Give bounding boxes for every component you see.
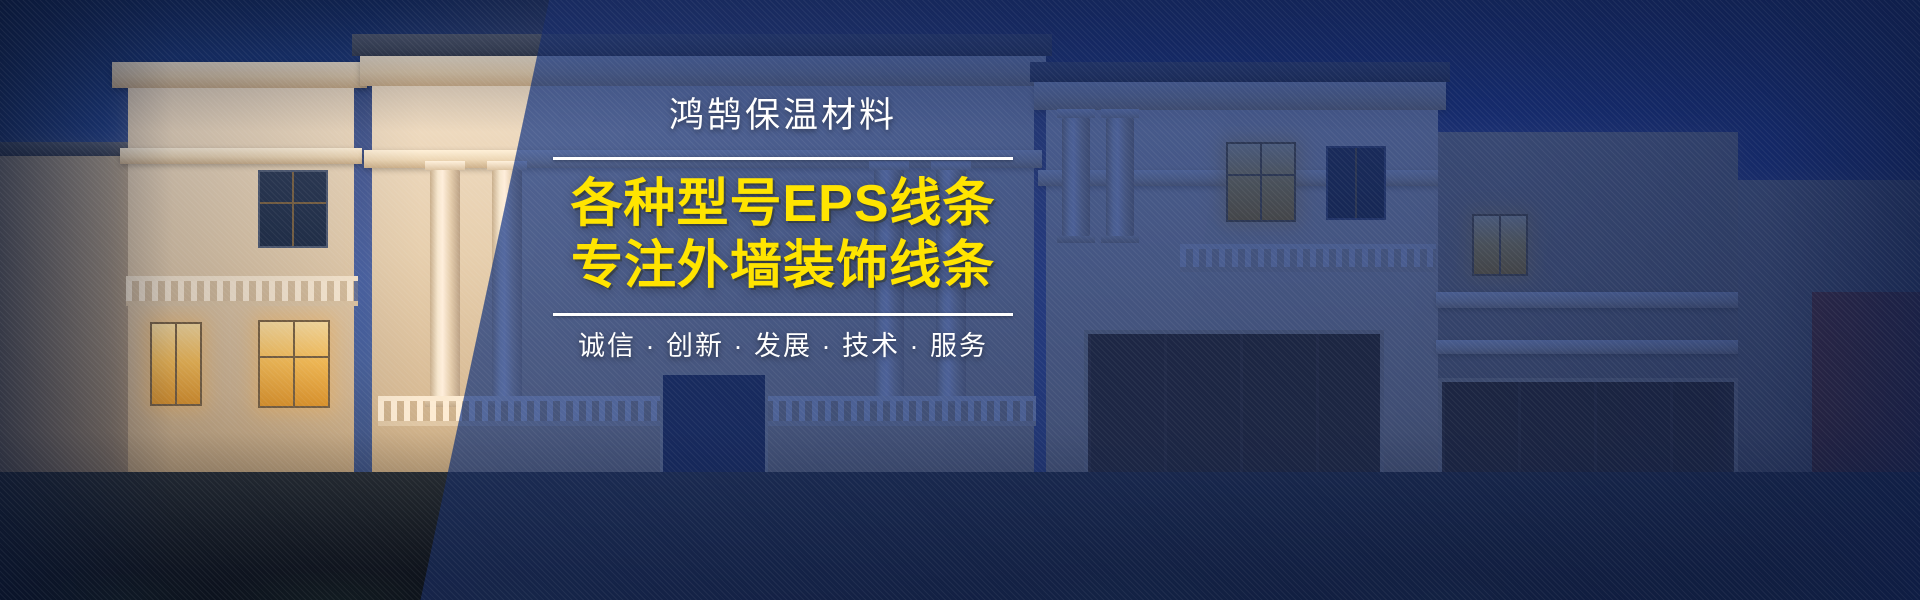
divider-top <box>553 157 1013 160</box>
banner-copy: 鸿鹄保温材料 各种型号EPS线条 专注外墙装饰线条 诚信 · 创新 · 发展 ·… <box>553 96 1013 362</box>
tagline: 诚信 · 创新 · 发展 · 技术 · 服务 <box>553 330 1013 362</box>
headline-line-1: 各种型号EPS线条 <box>570 175 995 233</box>
brand-name: 鸿鹄保温材料 <box>553 96 1013 135</box>
headline-line-2: 专注外墙装饰线条 <box>553 238 1013 294</box>
hero-banner: 鸿鹄保温材料 各种型号EPS线条 专注外墙装饰线条 诚信 · 创新 · 发展 ·… <box>0 0 1920 600</box>
headline: 各种型号EPS线条 专注外墙装饰线条 <box>553 176 1013 294</box>
divider-bottom <box>553 313 1013 316</box>
